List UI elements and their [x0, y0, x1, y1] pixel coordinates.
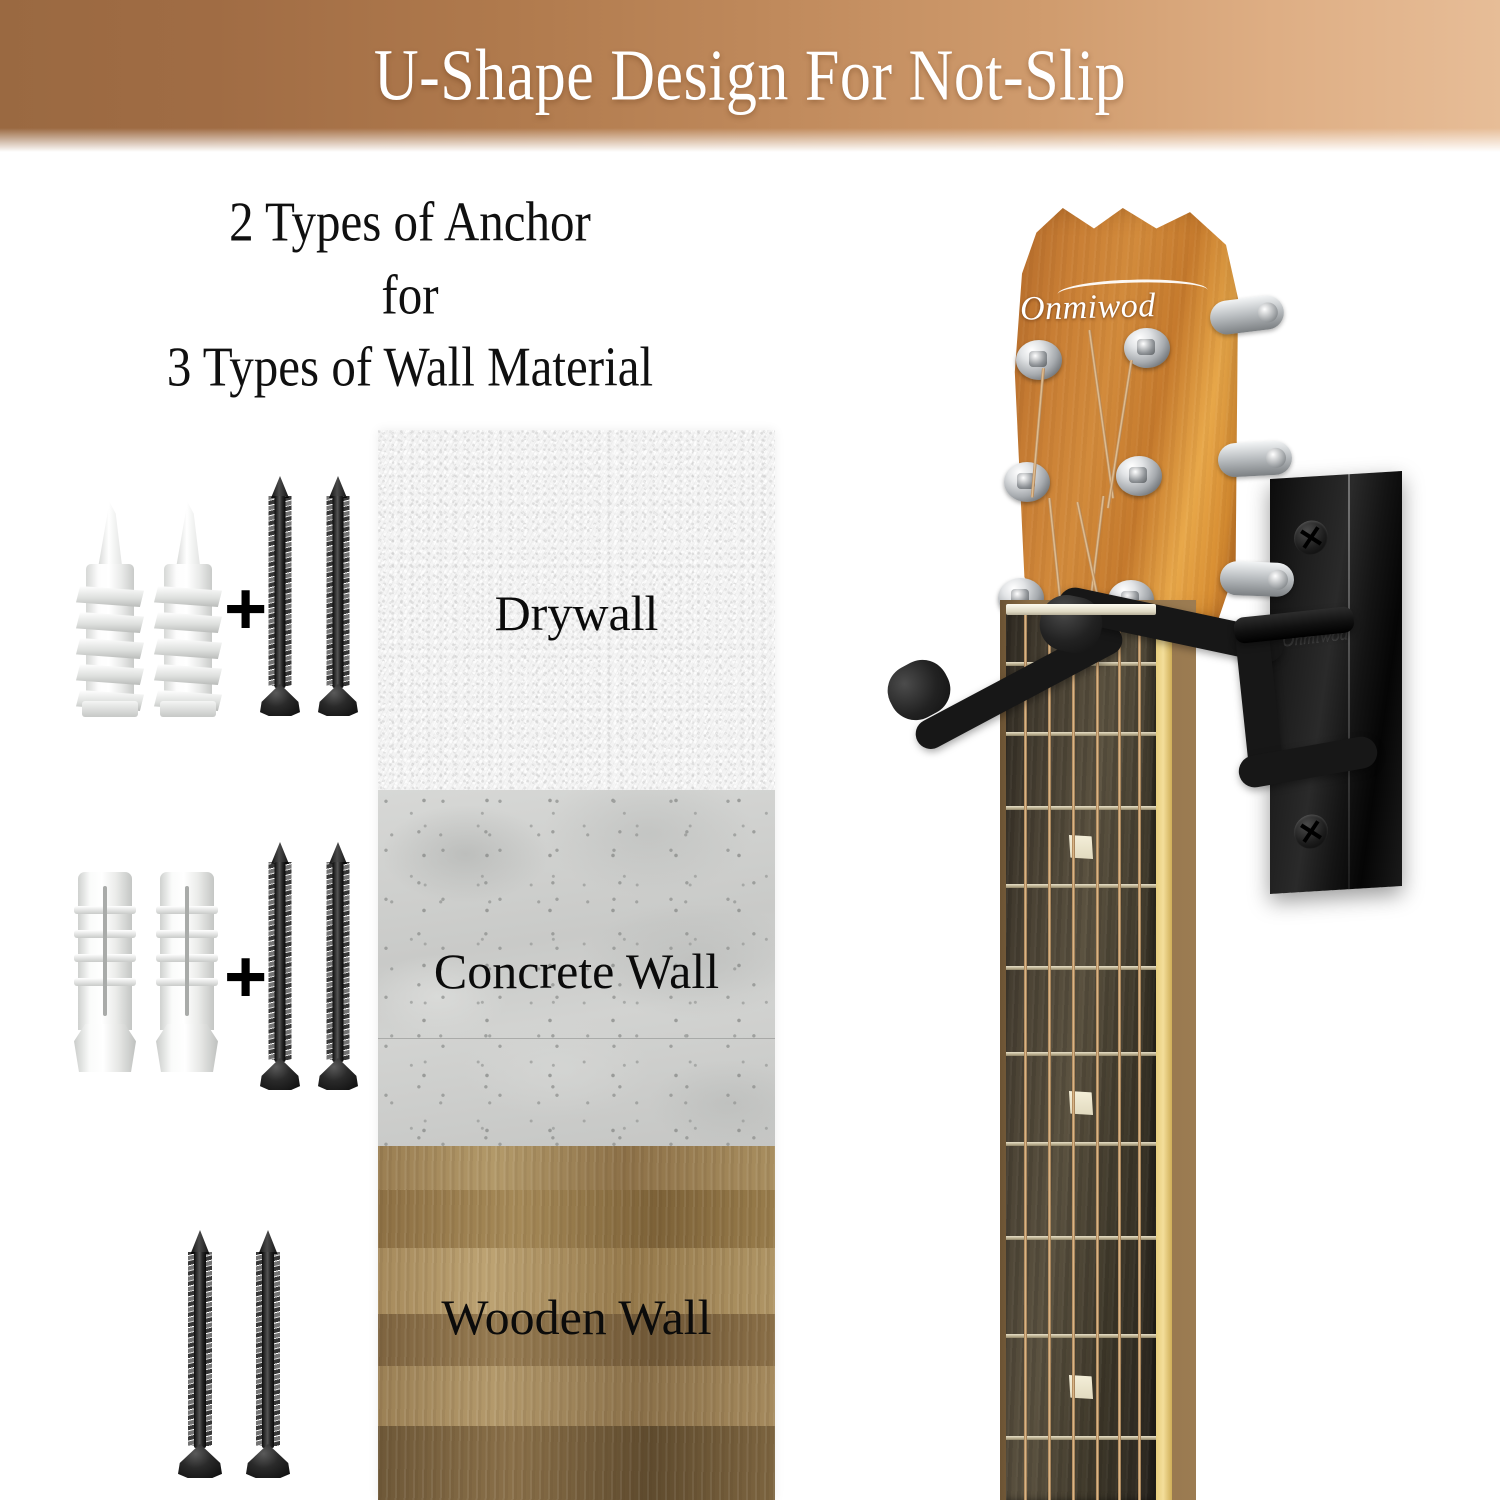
plug-slot [185, 886, 189, 1016]
screw-shaft [194, 1252, 206, 1448]
fret [1006, 1236, 1156, 1240]
fret [1006, 966, 1156, 970]
screw-head [260, 1058, 300, 1090]
wood-plank [378, 1366, 775, 1427]
wall-material-panels: Drywall Concrete Wall Wooden Wall [378, 430, 775, 1500]
fret [1006, 1436, 1156, 1440]
screw-shaft [333, 862, 344, 1062]
headline-block: 2 Types of Anchor for 3 Types of Wall Ma… [60, 186, 760, 404]
screw-shaft [262, 1252, 274, 1448]
tuning-machine [1116, 456, 1162, 496]
plug-skirt [156, 1024, 218, 1072]
panel-drywall: Drywall [378, 430, 775, 790]
wood-plank [378, 1190, 775, 1249]
screw-shaft [275, 496, 286, 688]
screw-point [271, 476, 289, 498]
bracket-screw-top [1294, 519, 1328, 555]
headline-line-3: 3 Types of Wall Material [60, 331, 760, 404]
screw [260, 842, 300, 1092]
fret [1006, 1142, 1156, 1146]
guitar-nut [1006, 604, 1156, 615]
wood-plank [378, 1426, 775, 1500]
screw-point [329, 842, 347, 864]
screw [260, 476, 300, 716]
panel-label-wooden: Wooden Wall [378, 1292, 775, 1342]
brand-logo: Onmiwod [1020, 285, 1221, 329]
screw-head [178, 1444, 222, 1478]
guitar-headstock [998, 208, 1238, 618]
anchor-collar [82, 701, 138, 717]
headline-line-1: 2 Types of Anchor [60, 186, 760, 259]
hardware-row-concrete: + [60, 860, 380, 1090]
concrete-wall-plug [156, 872, 218, 1072]
concrete-wall-plug [74, 872, 136, 1072]
screw [246, 1230, 290, 1478]
page-title: U-Shape Design For Not-Slip [0, 0, 1500, 166]
tuning-peg [1217, 440, 1293, 478]
screw [178, 1230, 222, 1478]
screw-head [318, 684, 358, 716]
concrete-seam [378, 1038, 775, 1039]
panel-label-concrete: Concrete Wall [378, 946, 775, 996]
fret [1006, 884, 1156, 888]
headstock-grain [998, 208, 1238, 618]
screw [318, 842, 358, 1092]
screw-point [271, 842, 289, 864]
fret [1006, 806, 1156, 810]
plug-slot [103, 886, 107, 1016]
screw-head [318, 1058, 358, 1090]
hardware-row-wooden [170, 1230, 370, 1480]
panel-concrete-wall: Concrete Wall [378, 790, 775, 1146]
panel-wooden-wall: Wooden Wall [378, 1146, 775, 1500]
panel-label-drywall: Drywall [378, 588, 775, 638]
fret [1006, 1052, 1156, 1056]
plug-skirt [74, 1024, 136, 1072]
screw-point [329, 476, 347, 498]
fret [1006, 1334, 1156, 1338]
anchor-collar [160, 701, 216, 717]
screw-point [191, 1230, 210, 1254]
tuning-machine [1004, 462, 1050, 502]
screw-point [259, 1230, 278, 1254]
drywall-anchor [78, 502, 142, 717]
headline-line-2: for [60, 259, 760, 332]
screw-shaft [333, 496, 344, 688]
bracket-screw-bottom [1294, 813, 1328, 849]
wood-plank [378, 1146, 775, 1191]
drywall-anchor [156, 502, 220, 717]
guitar-hanger-photo: Onmiwod Onmiwod [830, 180, 1490, 1500]
screw-shaft [275, 862, 286, 1062]
hardware-row-drywall: + [60, 480, 380, 730]
tuning-machine [1016, 340, 1062, 380]
screw-head [246, 1444, 290, 1478]
screw-head [260, 684, 300, 716]
screw [318, 476, 358, 716]
